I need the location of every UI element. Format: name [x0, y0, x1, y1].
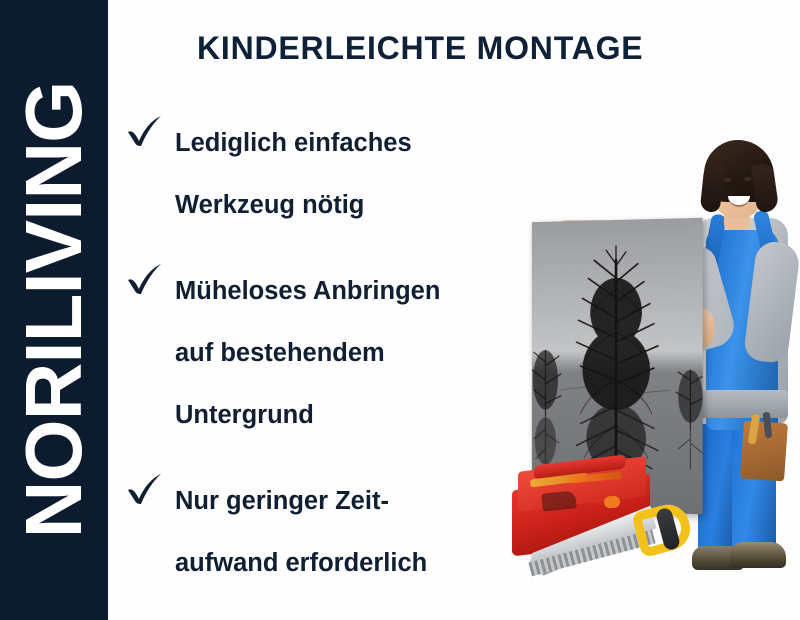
- checkmark-icon: [126, 472, 164, 506]
- checkmark-icon: [126, 262, 164, 296]
- brand-band: NORILIVING: [0, 0, 108, 620]
- page-title: KINDERLEICHTE MONTAGE: [197, 30, 643, 67]
- benefit-list: Lediglich einfaches Werkzeug nötig Mühel…: [126, 112, 486, 618]
- benefit-line: Untergrund: [175, 384, 486, 446]
- brand-wordmark: NORILIVING: [14, 82, 94, 539]
- checkmark-icon: [126, 114, 164, 148]
- promo-banner: NORILIVING KINDERLEICHTE MONTAGE Ledigli…: [0, 0, 800, 620]
- benefit-line: auf bestehendem: [175, 322, 486, 384]
- benefit-line: Werkzeug nötig: [175, 174, 486, 236]
- list-item: Müheloses Anbringen auf bestehendem Unte…: [126, 260, 486, 446]
- benefit-line: aufwand erforderlich: [175, 532, 486, 594]
- worker-tool-belt: [698, 390, 788, 418]
- product-photo: [490, 100, 800, 620]
- benefit-line: Nur geringer Zeit-: [175, 470, 486, 532]
- list-item: Lediglich einfaches Werkzeug nötig: [126, 112, 486, 236]
- handsaw: [526, 500, 694, 586]
- worker-shoe-right: [730, 542, 786, 568]
- benefit-line: Müheloses Anbringen: [175, 260, 486, 322]
- worker-eye-right: [744, 177, 751, 181]
- benefit-line: Lediglich einfaches: [175, 112, 486, 174]
- worker-eye-left: [724, 178, 731, 182]
- list-item: Nur geringer Zeit- aufwand erforderlich: [126, 470, 486, 594]
